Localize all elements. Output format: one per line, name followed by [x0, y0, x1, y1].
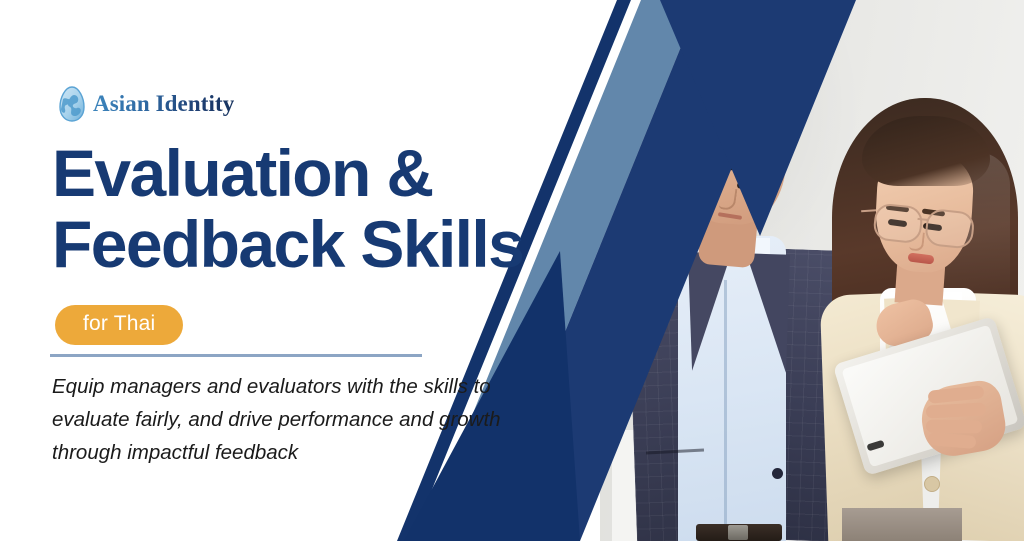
female-skirt	[842, 508, 962, 541]
male-jacket-button	[772, 468, 783, 479]
brand-name: Asian Identity	[93, 91, 234, 117]
female-blazer-button	[924, 476, 940, 492]
hero-content: Asian Identity Evaluation & Feedback Ski…	[0, 0, 600, 541]
female-finger	[926, 420, 982, 434]
female-colleague-figure	[818, 88, 1024, 541]
page-title-line-2: Feedback Skills	[52, 209, 592, 280]
audience-badge: for Thai	[55, 305, 183, 345]
course-banner: Asian Identity Evaluation & Feedback Ski…	[0, 0, 1024, 541]
brand-logo[interactable]: Asian Identity	[58, 86, 234, 122]
eyeglass-lens-right	[924, 208, 976, 250]
female-hair-fringe	[862, 116, 990, 186]
male-jacket-lapel-left	[688, 251, 736, 370]
page-title: Evaluation & Feedback Skills	[52, 138, 592, 279]
hero-photo	[600, 0, 1024, 541]
male-jacket-lapel-right	[742, 253, 790, 372]
page-title-line-1: Evaluation &	[52, 138, 592, 209]
egg-globe-icon	[58, 86, 86, 122]
male-belt-buckle	[728, 525, 748, 540]
hero-description: Equip managers and evaluators with the s…	[52, 370, 522, 470]
section-divider	[50, 354, 422, 357]
